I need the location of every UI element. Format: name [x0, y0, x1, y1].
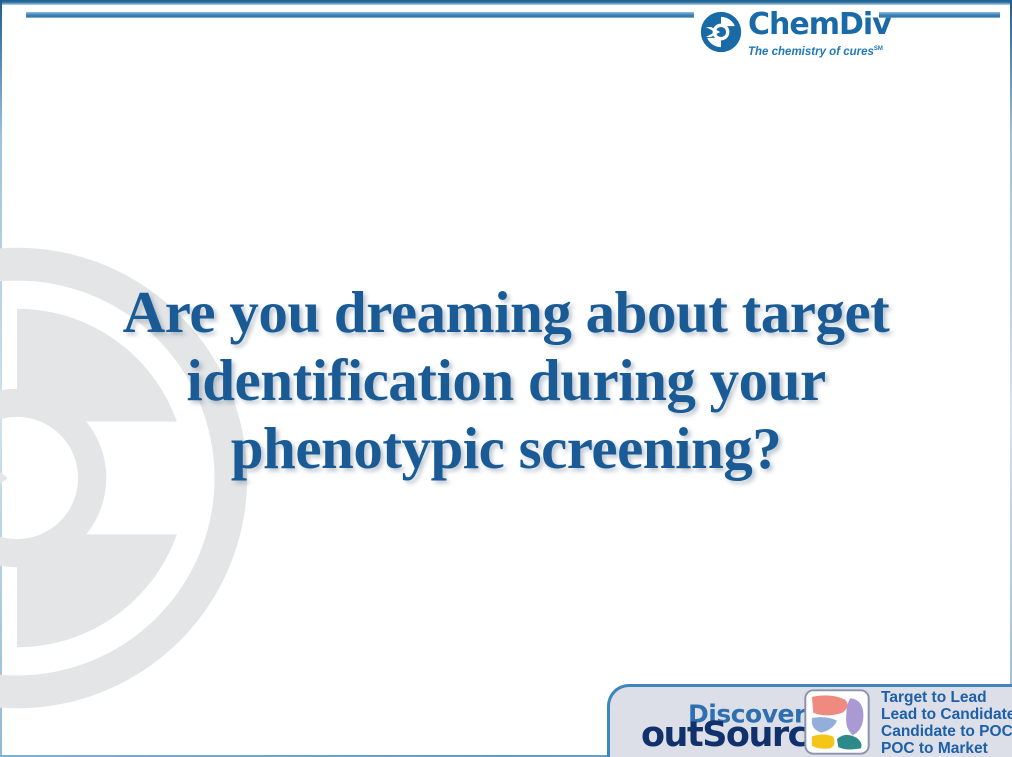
wordmark-outsource: outSource [641, 718, 829, 753]
title-line-1: Are you dreaming about target [86, 278, 926, 346]
header-rule-left [26, 12, 694, 18]
brand-tagline: The chemistry of curesSM [748, 42, 891, 59]
chemdiv-swirl-icon [700, 11, 742, 53]
slide-title: Are you dreaming about target identifica… [86, 278, 926, 482]
pipeline-stage: Candidate to POC [881, 723, 1012, 740]
footer-branding-panel: Discovery™ outSource Target to Lead Lead… [607, 684, 1012, 757]
top-edge-bar [0, 0, 1012, 5]
pipeline-stages-list: Target to Lead Lead to Candidate Candida… [881, 689, 1012, 757]
pipeline-stage: Target to Lead [881, 689, 1012, 706]
pipeline-stage: Lead to Candidate [881, 706, 1012, 723]
chemdiv-logo-text: ChemDiv The chemistry of curesSM [748, 10, 891, 59]
left-edge-line [0, 0, 2, 757]
discovery-outsource-wordmark: Discovery™ outSource [641, 699, 816, 757]
chemdiv-logo: ChemDiv The chemistry of curesSM [700, 10, 891, 59]
service-mark: SM [874, 46, 883, 52]
pipeline-stage: POC to Market [881, 740, 1012, 757]
presentation-slide: ChemDiv The chemistry of curesSM Are you… [0, 0, 1012, 757]
mosaic-tile-icon [804, 689, 870, 755]
brand-name: ChemDiv [748, 10, 891, 40]
header-rule-right [879, 12, 1000, 18]
title-line-2: identification during your [86, 346, 926, 414]
title-line-3: phenotypic screening? [86, 414, 926, 482]
